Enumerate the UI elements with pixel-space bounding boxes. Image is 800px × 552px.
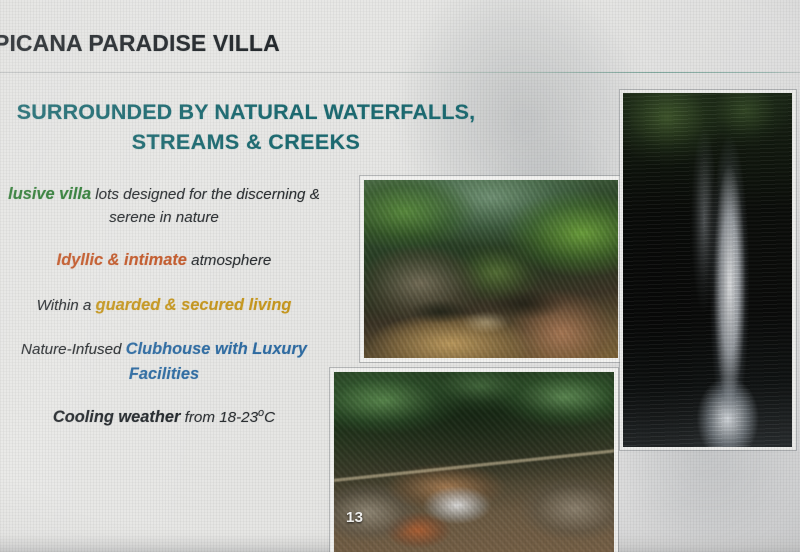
- list-item: Cooling weather from 18-23oC: [0, 405, 338, 430]
- list-item: Within a guarded & secured living: [0, 293, 338, 318]
- slide-number: 13: [346, 509, 363, 526]
- bullet-highlight-3: guarded & secured living: [96, 296, 292, 314]
- bullet-text-2: atmosphere: [187, 252, 271, 269]
- photo-forest-creek: 13: [330, 368, 618, 552]
- slide-title: PICANA PARADISE VILLA: [0, 30, 280, 57]
- bullet-prefix-3: Within a: [37, 297, 96, 314]
- photo-jungle-stream-image: [364, 180, 618, 358]
- bullet-highlight-5: Cooling weather: [53, 408, 181, 426]
- bullet-text-1: lots designed for the discerning & seren…: [91, 186, 320, 226]
- slide-heading-line-1: SURROUNDED BY NATURAL WATERFALLS,: [0, 98, 496, 128]
- presentation-slide-photo: PICANA PARADISE VILLA SURROUNDED BY NATU…: [0, 0, 800, 552]
- list-item: Nature-Infused Clubhouse with Luxury Fac…: [0, 337, 338, 386]
- list-item: Idyllic & intimate atmosphere: [0, 248, 338, 273]
- bullet-highlight-4: Clubhouse with Luxury Facilities: [126, 340, 307, 383]
- photo-waterfall: [620, 90, 796, 450]
- photo-jungle-stream: [360, 176, 622, 362]
- bullet-text-5a: from 18-23: [180, 409, 258, 426]
- slide-heading: SURROUNDED BY NATURAL WATERFALLS, STREAM…: [0, 98, 496, 157]
- photo-waterfall-image: [623, 93, 792, 447]
- bullet-text-5b: C: [264, 409, 275, 426]
- bullet-prefix-4: Nature-Infused: [21, 341, 126, 358]
- bullet-highlight-2: Idyllic & intimate: [57, 251, 187, 269]
- photo-forest-creek-image: [334, 372, 614, 552]
- slide-heading-line-2: STREAMS & CREEKS: [0, 128, 496, 158]
- feature-bullet-list: lusive villa lots designed for the disce…: [0, 182, 338, 447]
- title-divider: [0, 72, 800, 73]
- list-item: lusive villa lots designed for the disce…: [0, 182, 338, 229]
- bullet-highlight-1: lusive villa: [8, 185, 91, 203]
